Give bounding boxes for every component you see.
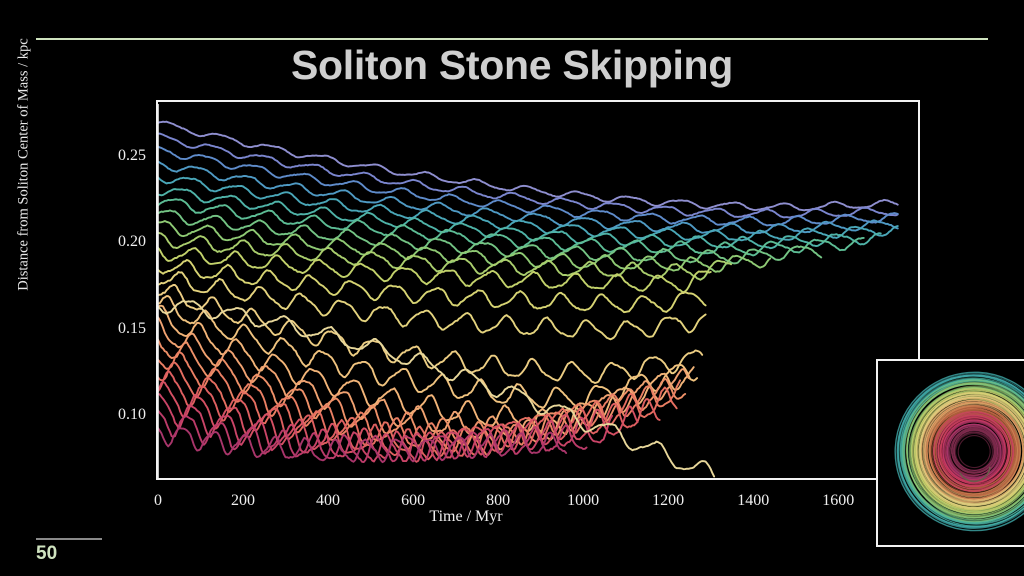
orbit-curve — [158, 232, 731, 279]
orbit-curve — [158, 285, 702, 383]
orbit-curve — [158, 272, 706, 339]
orbit-curve — [158, 199, 864, 255]
header-rule — [36, 38, 988, 40]
y-axis-label: Distance from Soliton Center of Mass / k… — [16, 0, 33, 445]
x-axis-label: Time / Myr — [156, 508, 776, 526]
inset-rings — [878, 361, 1024, 545]
x-tick-label: 1600 — [822, 492, 854, 510]
y-tick-label: 0.15 — [118, 320, 146, 338]
orbit-curve — [158, 306, 694, 434]
plot-canvas — [158, 102, 918, 478]
y-tick-label: 0.10 — [118, 406, 146, 424]
y-tick-label: 0.25 — [118, 147, 146, 165]
y-tick-label: 0.20 — [118, 233, 146, 251]
footer-rule — [36, 538, 102, 540]
orbit-inset — [876, 359, 1024, 547]
orbit-curve — [158, 296, 697, 410]
page-title: Soliton Stone Skipping — [0, 42, 1024, 89]
page-number: 50 — [36, 543, 57, 565]
inset-canvas — [878, 361, 1024, 545]
slide: Soliton Stone Skipping Distance from Sol… — [0, 0, 1024, 576]
orbit-curves — [158, 122, 898, 477]
y-axis-ticks: 0.100.150.200.25 — [88, 100, 146, 490]
main-plot — [156, 100, 920, 480]
